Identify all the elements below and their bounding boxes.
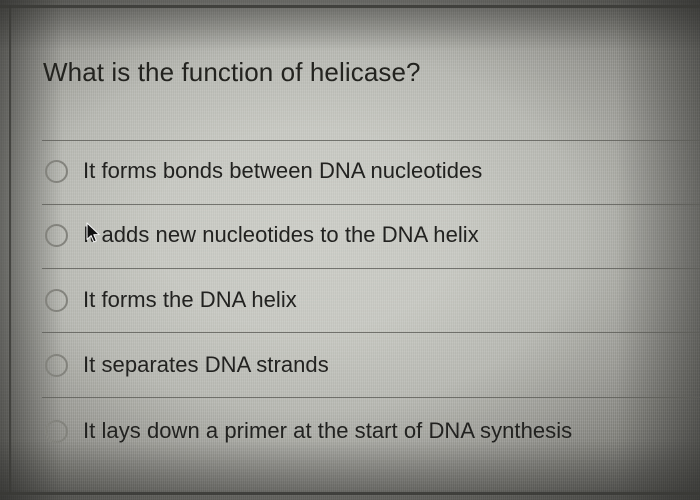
option-row-4[interactable]: It separates DNA strands: [42, 342, 700, 388]
option-label-2: It adds new nucleotides to the DNA helix: [83, 222, 479, 248]
radio-button-icon[interactable]: [45, 160, 68, 183]
option-label-5: It lays down a primer at the start of DN…: [83, 418, 572, 444]
option-row-2[interactable]: It adds new nucleotides to the DNA helix: [42, 212, 700, 258]
option-label-3: It forms the DNA helix: [83, 287, 297, 313]
option-label-1: It forms bonds between DNA nucleotides: [83, 158, 482, 184]
option-divider: [42, 204, 700, 205]
radio-button-icon[interactable]: [45, 224, 68, 247]
option-divider: [42, 397, 700, 398]
quiz-content: What is the function of helicase? It for…: [0, 0, 700, 500]
option-divider: [42, 140, 700, 141]
question-text: What is the function of helicase?: [43, 57, 421, 88]
option-label-4: It separates DNA strands: [83, 352, 329, 378]
radio-button-icon[interactable]: [45, 420, 68, 443]
radio-button-icon[interactable]: [45, 354, 68, 377]
option-row-1[interactable]: It forms bonds between DNA nucleotides: [42, 148, 700, 194]
option-row-5[interactable]: It lays down a primer at the start of DN…: [42, 408, 700, 454]
option-row-3[interactable]: It forms the DNA helix: [42, 277, 700, 323]
quiz-screenshot: What is the function of helicase? It for…: [0, 0, 700, 500]
radio-button-icon[interactable]: [45, 289, 68, 312]
option-divider: [42, 268, 700, 269]
option-divider: [42, 332, 700, 333]
